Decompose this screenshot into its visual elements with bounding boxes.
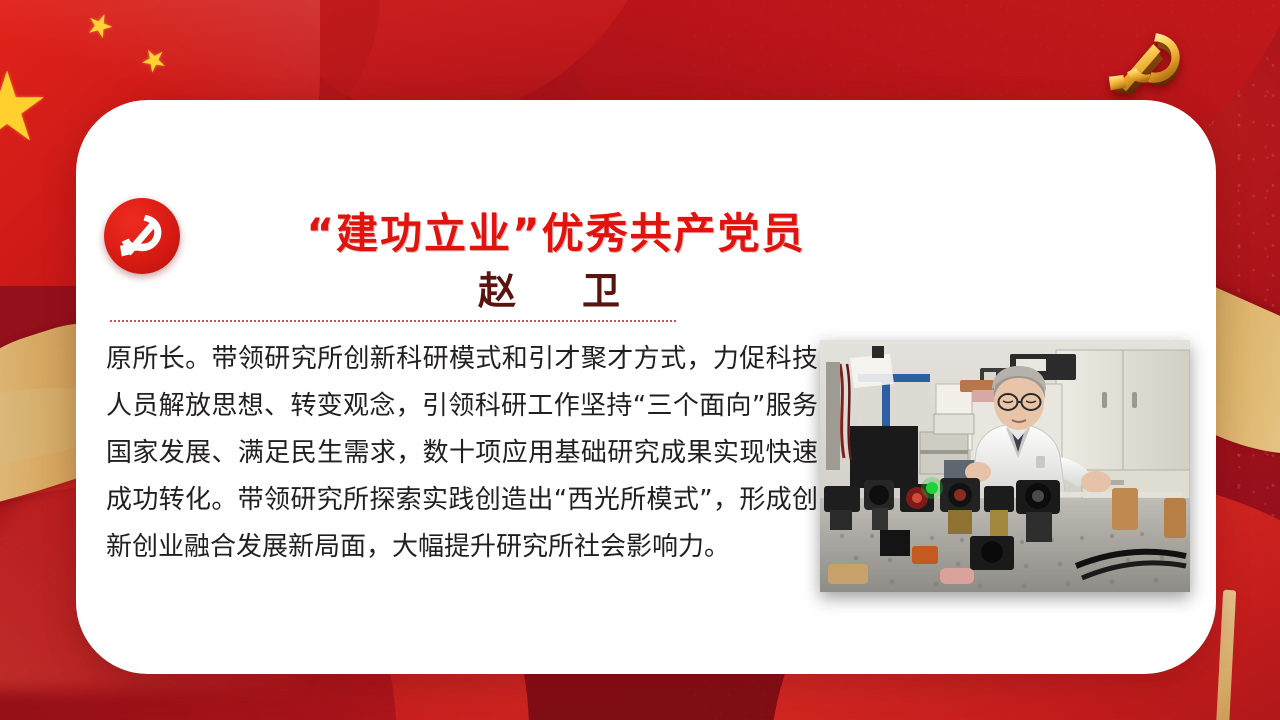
- description-paragraph: 原所长。带领研究所创新科研模式和引才聚才方式，力促科技人员解放思想、转变观念，引…: [106, 336, 818, 571]
- content-card: “建功立业”优秀共产党员 赵 卫 原所长。带领研究所创新科研模式和引才聚才方式，…: [76, 100, 1216, 674]
- flag-star-small: ★: [81, 6, 118, 45]
- flag-star-small: ★: [133, 41, 173, 81]
- person-name: 赵 卫: [196, 260, 916, 315]
- slide-root: ★ ★ ★ ★ ★: [0, 0, 1280, 720]
- description-text: 原所长。带领研究所创新科研模式和引才聚才方式，力促科技人员解放思想、转变观念，引…: [106, 336, 818, 571]
- portrait-photo: [820, 340, 1190, 592]
- hammer-sickle-icon: [116, 210, 168, 262]
- page-title: “建功立业”优秀共产党员: [196, 200, 916, 261]
- lab-photo-illustration: [820, 340, 1190, 592]
- party-emblem-gold-icon: [1100, 26, 1192, 104]
- flag-star-large: ★: [0, 60, 50, 156]
- dotted-divider: [110, 320, 676, 322]
- hammer-sickle-badge: [104, 198, 180, 274]
